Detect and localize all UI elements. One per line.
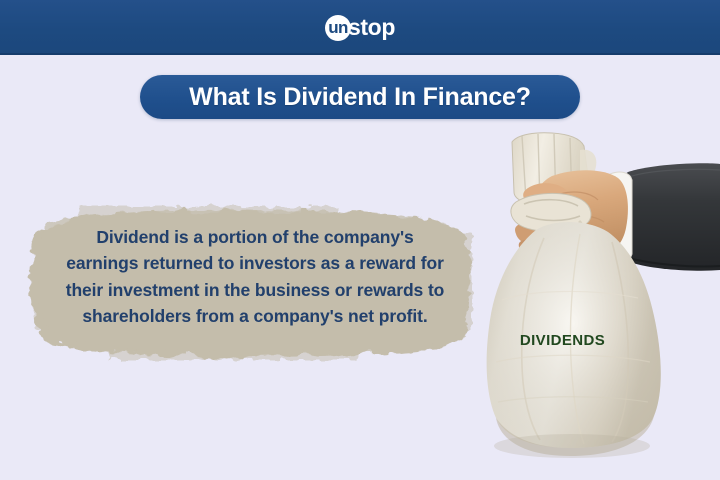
logo-mark-text: un: [328, 19, 348, 37]
brush-stroke-panel: Dividend is a portion of the company's e…: [18, 198, 480, 368]
bag-label-dividends: DIVIDENDS: [500, 332, 625, 349]
title-banner: What Is Dividend In Finance?: [140, 75, 580, 119]
logo-circle-icon: un: [325, 15, 351, 41]
infographic-canvas: un stop What Is Dividend In Finance?: [0, 0, 720, 480]
header-bar: un stop: [0, 0, 720, 55]
logo-wordmark: stop: [348, 16, 395, 39]
unstop-logo[interactable]: un stop: [325, 11, 395, 45]
page-title: What Is Dividend In Finance?: [189, 83, 531, 112]
definition-text: Dividend is a portion of the company's e…: [58, 224, 452, 329]
money-bag-graphic: [440, 130, 720, 460]
money-bag-illustration: DIVIDENDS: [440, 130, 720, 460]
